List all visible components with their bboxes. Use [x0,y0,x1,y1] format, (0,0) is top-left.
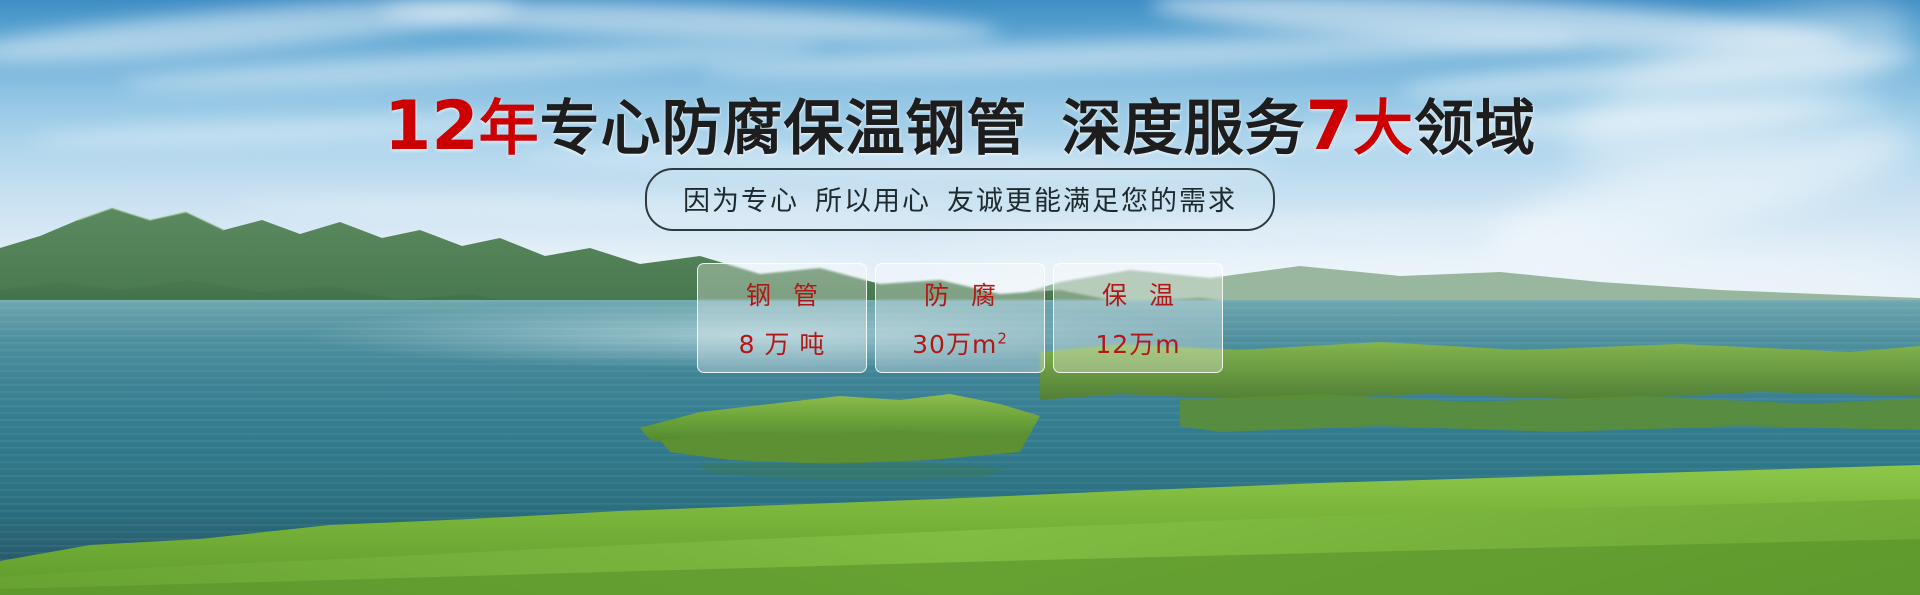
headline-lead-number: 12 [384,87,479,166]
banner-content: 12年专心防腐保温钢管深度服务7大领域 因为专心所以用心友诚更能满足您的需求 钢… [0,0,1920,595]
headline-part1: 专心防腐保温钢管 [540,94,1028,164]
headline-lead-unit: 年 [479,94,540,164]
stat-card-value-text: 12万m [1095,330,1180,359]
stat-card-steel-pipe: 钢 管 8 万 吨 [697,263,867,373]
stat-card-anticorrosion: 防 腐 30万m2 [875,263,1045,373]
subtitle-segment-3: 友诚更能满足您的需求 [947,186,1237,217]
stat-card-value-text: 8 万 吨 [739,330,826,359]
stat-card-value-text: 30万m [912,330,997,359]
hero-banner: 12年专心防腐保温钢管深度服务7大领域 因为专心所以用心友诚更能满足您的需求 钢… [0,0,1920,595]
stat-card-label: 保 温 [1095,276,1181,312]
headline-highlight-number: 7 [1306,87,1353,166]
headline-part2: 深度服务 [1062,94,1306,164]
headline-part3: 领域 [1414,94,1536,164]
stat-card-label: 防 腐 [917,276,1003,312]
stat-card-value: 12万m [1095,325,1180,361]
subtitle-segment-2: 所以用心 [815,186,931,217]
page-title: 12年专心防腐保温钢管深度服务7大领域 [0,80,1920,167]
stats-card-group: 钢 管 8 万 吨 防 腐 30万m2 保 温 12万m [697,263,1223,373]
stat-card-label: 钢 管 [739,276,825,312]
stat-card-value: 30万m2 [912,325,1008,361]
subtitle-segment-1: 因为专心 [683,186,799,217]
stat-card-value-superscript: 2 [997,329,1008,347]
subtitle-badge: 因为专心所以用心友诚更能满足您的需求 [645,168,1275,231]
stat-card-insulation: 保 温 12万m [1053,263,1223,373]
stat-card-value: 8 万 吨 [739,325,826,361]
headline-highlight-unit: 大 [1353,94,1414,164]
